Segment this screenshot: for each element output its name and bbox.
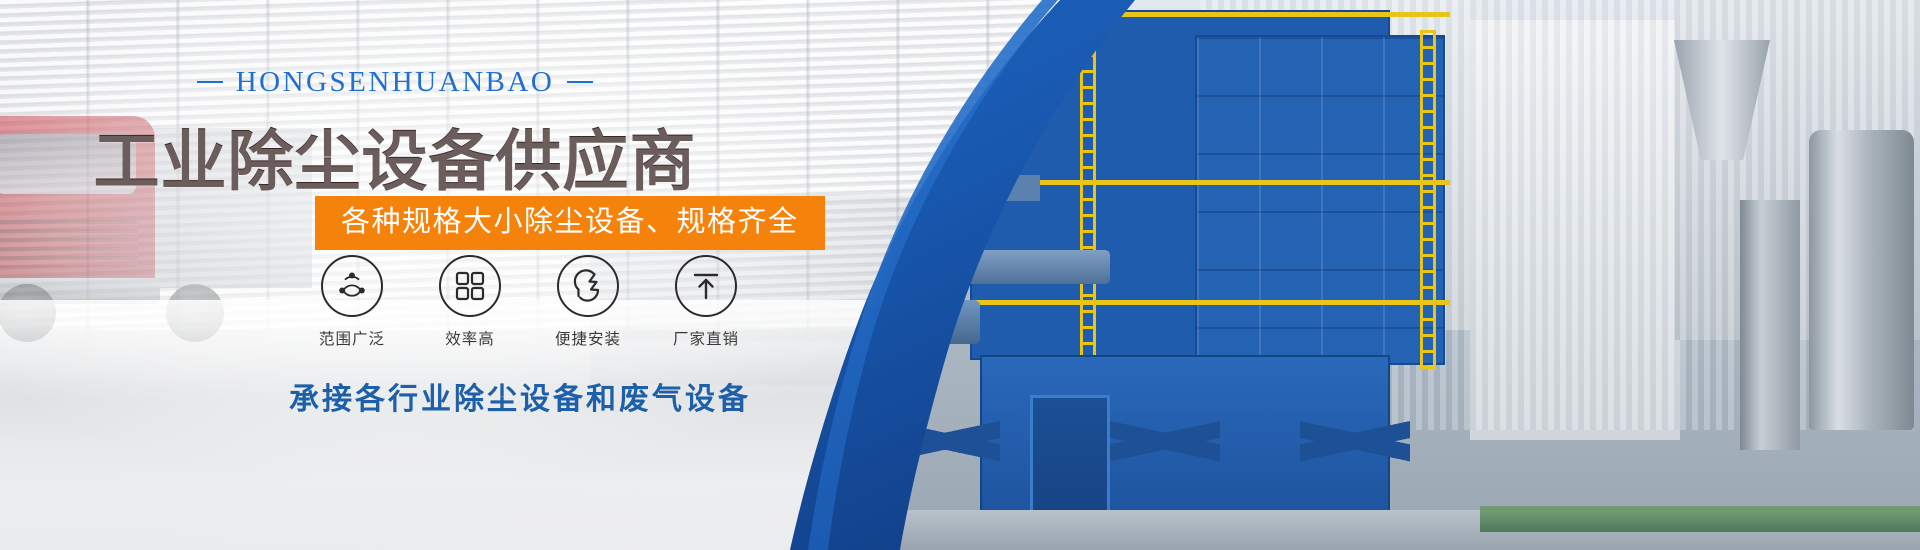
feature-item-direct-sales[interactable]: 厂家直销 [668, 255, 744, 349]
feature-item-install[interactable]: 便捷安装 [550, 255, 626, 349]
feature-label: 厂家直销 [668, 327, 744, 349]
feature-label: 便捷安装 [550, 327, 626, 349]
hero-banner: HONGSENHUANBAO 工业除尘设备供应商 各种规格大小除尘设备、规格齐全… [0, 0, 1920, 550]
subtitle-highlight-bar: 各种规格大小除尘设备、规格齐全 [315, 196, 825, 250]
yellow-handrail-mid [970, 180, 1450, 185]
feature-list: 范围广泛 效率高 [314, 255, 744, 349]
feature-icon-circle [675, 255, 737, 317]
eyebrow-brand-line: HONGSENHUANBAO [0, 66, 790, 99]
eyebrow-text: HONGSENHUANBAO [236, 66, 555, 98]
feature-label: 效率高 [432, 327, 508, 349]
wrench-icon [571, 269, 605, 303]
feature-label: 范围广泛 [314, 327, 390, 349]
feature-item-range[interactable]: 范围广泛 [314, 255, 390, 349]
green-hedge-strip [1480, 506, 1920, 532]
grid-squares-icon [454, 270, 486, 302]
page-title: 工业除尘设备供应商 [0, 108, 790, 204]
eyebrow-dash-right [567, 81, 593, 83]
eyebrow-dash-left [197, 81, 223, 83]
arrow-up-bar-icon [690, 270, 722, 302]
feature-item-efficiency[interactable]: 效率高 [432, 255, 508, 349]
feature-icon-circle [439, 255, 501, 317]
steel-silo-secondary [1740, 200, 1800, 450]
feature-icon-circle [557, 255, 619, 317]
horizontal-duct [930, 250, 1110, 284]
share-nodes-icon [335, 269, 369, 303]
banner-content: HONGSENHUANBAO 工业除尘设备供应商 各种规格大小除尘设备、规格齐全… [0, 0, 900, 550]
yellow-ladder-left [1080, 6, 1096, 366]
yellow-ladder-right [1420, 30, 1436, 370]
steel-silo [1809, 130, 1914, 430]
feature-icon-circle [321, 255, 383, 317]
tagline-text: 承接各行业除尘设备和废气设备 [0, 374, 1040, 418]
baghouse-dust-collector-rear [1195, 35, 1445, 365]
yellow-handrail-low [970, 300, 1450, 305]
